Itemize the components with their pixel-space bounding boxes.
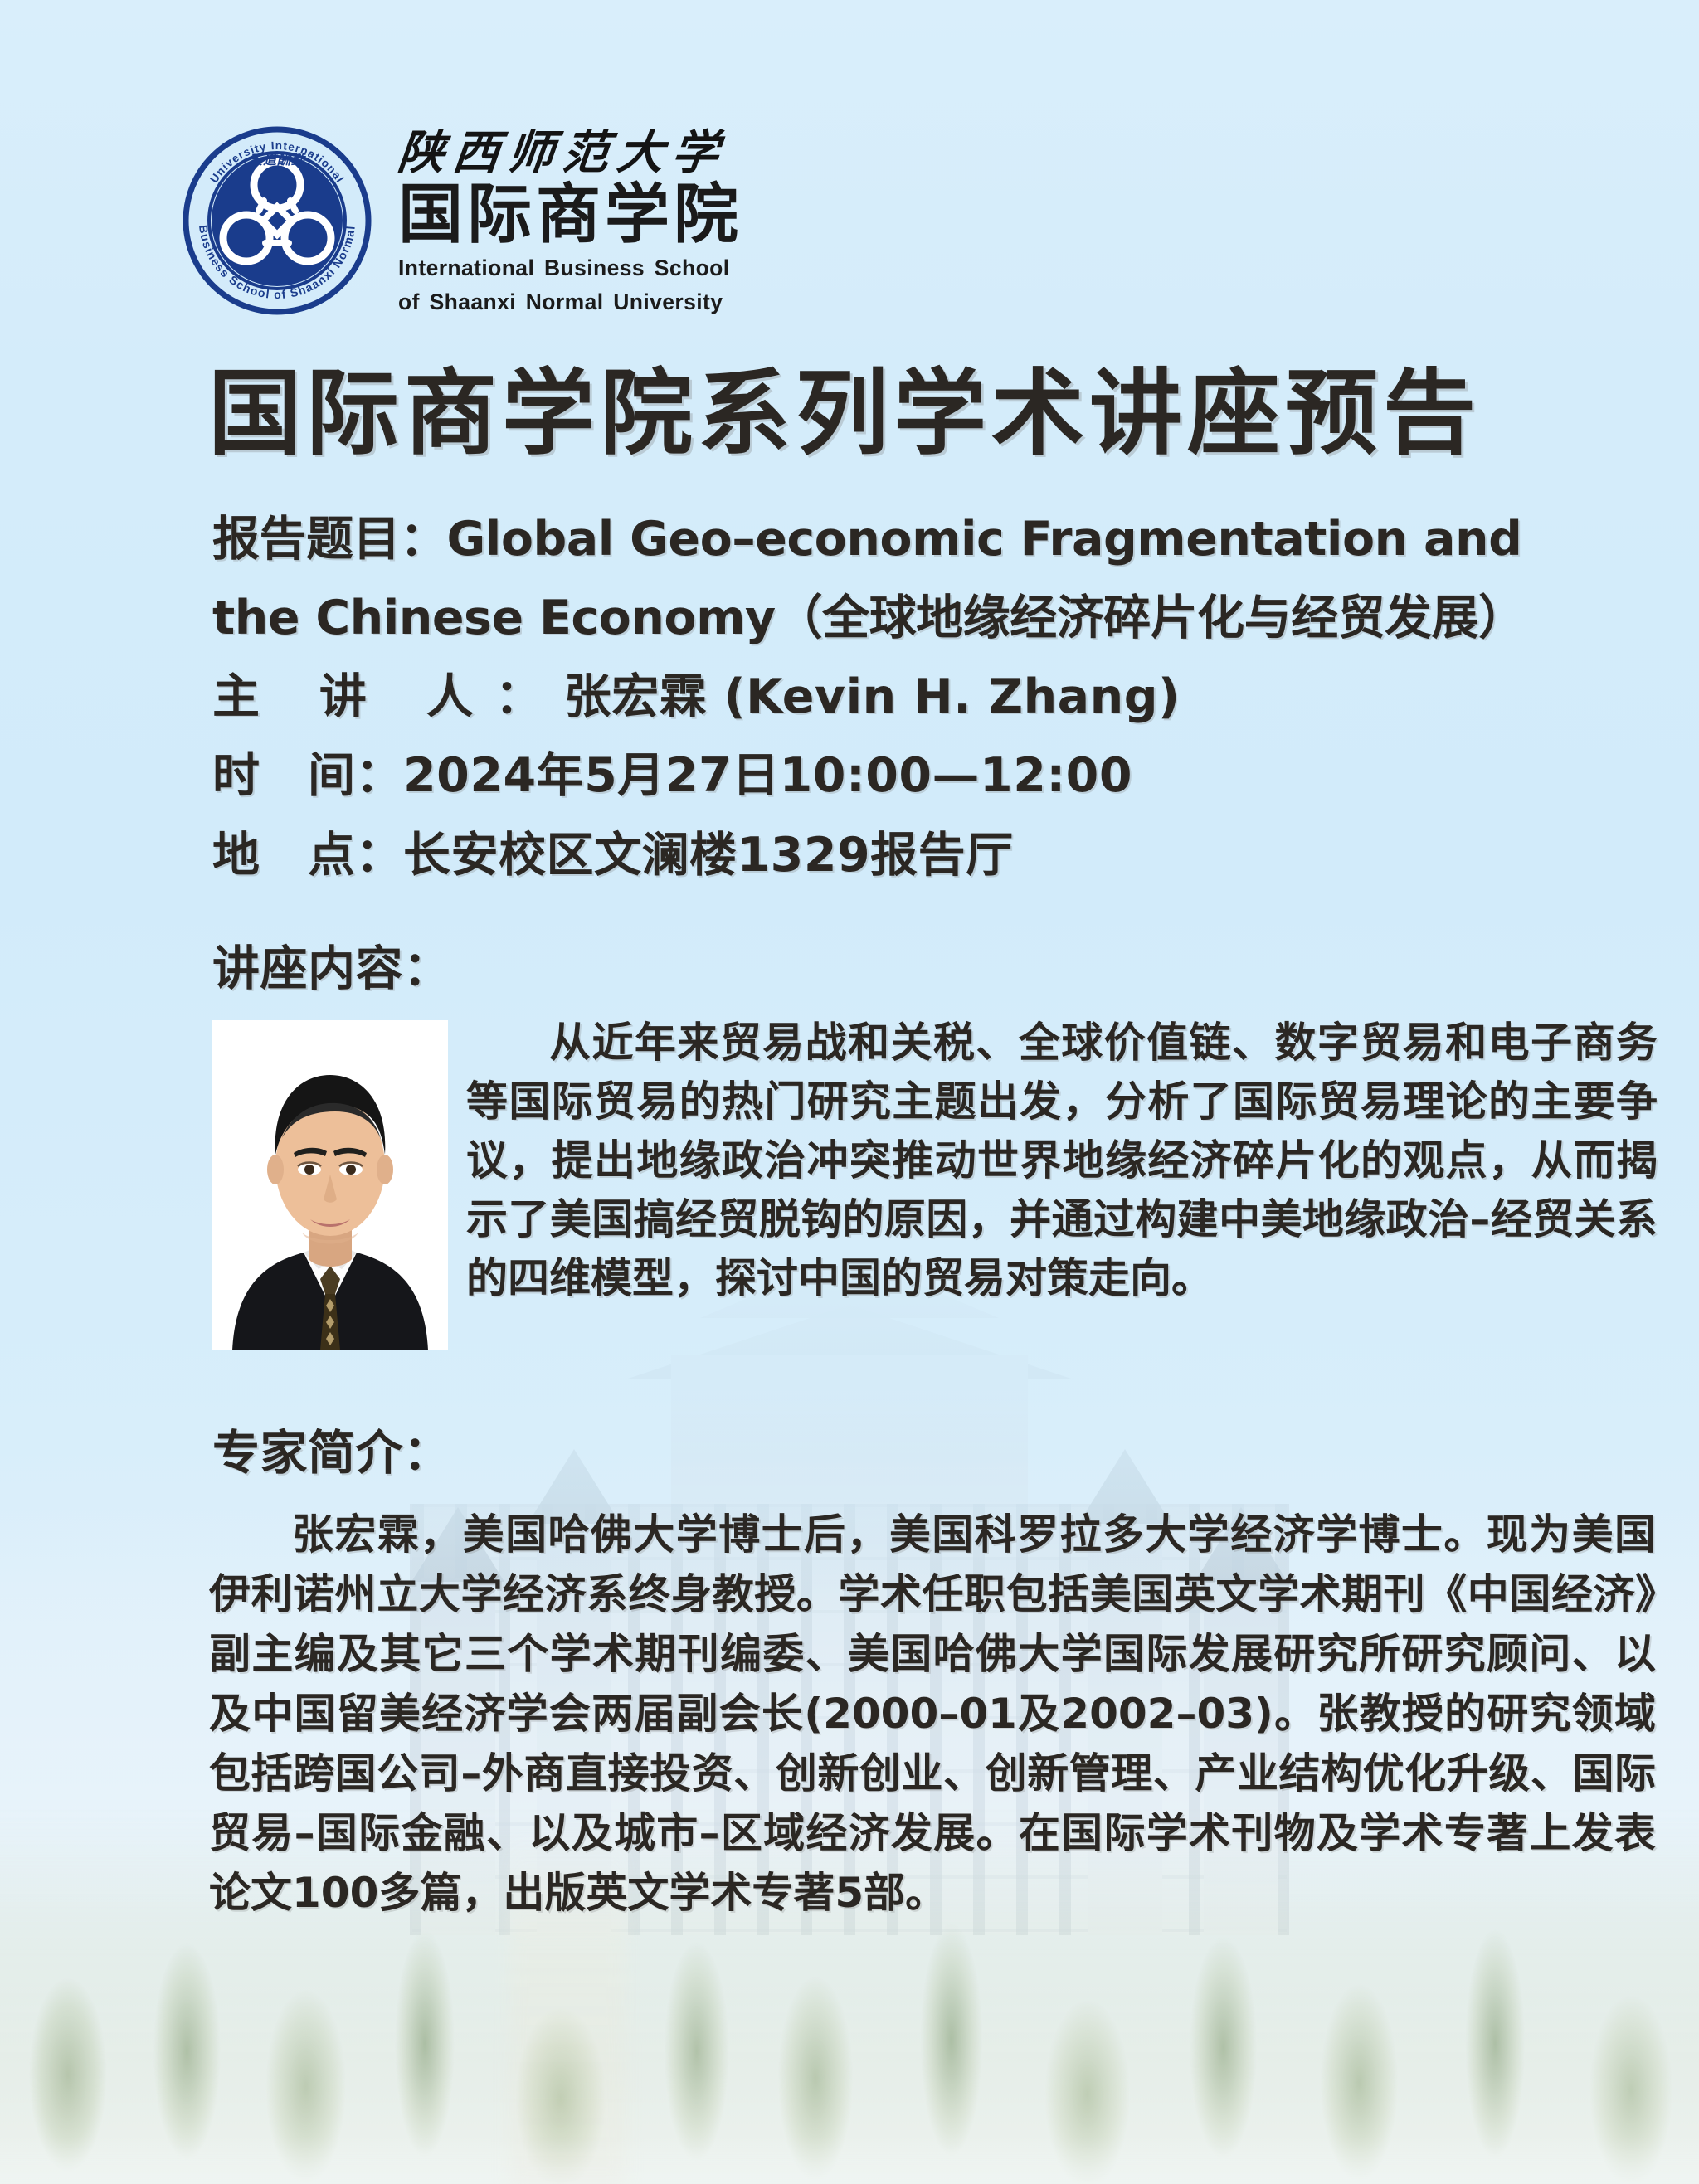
time-colon: ： (356, 748, 404, 803)
poster-content: University International Business School… (0, 0, 1699, 1923)
speaker-value: 张宏霖 (Kevin H. Zhang) (564, 669, 1181, 724)
lecture-content-block: 从近年来贸易战和关税、全球价值链、数字贸易和电子商务等国际贸易的热门研究主题出发… (0, 1014, 1699, 1370)
place-colon: ： (356, 828, 404, 883)
topic-value-line2-en: the Chinese Economy (212, 591, 776, 645)
time-label-char2: 间 (308, 748, 356, 803)
time-value: 2024年5月27日10:00—12:00 (403, 748, 1132, 803)
place-value: 长安校区文澜楼1329报告厅 (403, 828, 1014, 883)
expert-bio-text: 张宏霖，美国哈佛大学博士后，美国科罗拉多大学经济学博士。现为美国伊利诺州立大学经… (209, 1505, 1656, 1923)
event-info-block: 报告题目：Global Geo–economic Fragmentation a… (0, 508, 1699, 885)
topic-value-line2-cn: （全球地缘经济碎片化与经贸发展） (776, 591, 1526, 645)
expert-bio-heading: 专家简介： (212, 1415, 1699, 1483)
topic-value-line1: Global Geo–economic Fragmentation and (447, 512, 1522, 567)
lecture-content-heading: 讲座内容： (212, 931, 1699, 999)
school-wordmark: 陕西师范大学 国际商学院 International Business Scho… (398, 124, 742, 316)
topic-row-line2: the Chinese Economy（全球地缘经济碎片化与经贸发展） (212, 587, 1658, 649)
topic-row-line1: 报告题目：Global Geo–economic Fragmentation a… (212, 508, 1658, 570)
speaker-row: 主 讲 人：张宏霖 (Kevin H. Zhang) (212, 666, 1658, 727)
university-name-cn: 陕西师范大学 (396, 129, 745, 176)
place-row: 地点：长安校区文澜楼1329报告厅 (212, 824, 1658, 886)
expert-bio-block: 张宏霖，美国哈佛大学博士后，美国科罗拉多大学经济学博士。现为美国伊利诺州立大学经… (0, 1505, 1699, 1923)
speaker-label: 主 讲 人： (212, 669, 564, 724)
university-seal-logo: University International Business School… (181, 124, 373, 317)
speaker-portrait (212, 1020, 448, 1350)
place-label-char1: 地 (212, 828, 308, 883)
brand-header: University International Business School… (0, 0, 1699, 317)
school-name-en-line2: of Shaanxi Normal University (398, 289, 742, 317)
page-title: 国际商学院系列学术讲座预告 (0, 363, 1699, 465)
place-label-char2: 点 (308, 828, 356, 883)
time-label-char1: 时 (212, 748, 308, 803)
school-name-en-line1: International Business School (398, 255, 742, 283)
speaker-portrait-illustration (212, 1020, 448, 1350)
svg-text:天道酬勤: 天道酬勤 (249, 152, 306, 168)
topic-label: 报告题目： (212, 512, 447, 567)
time-row: 时间：2024年5月27日10:00—12:00 (212, 745, 1658, 806)
lecture-poster: University International Business School… (0, 0, 1699, 2184)
school-name-cn: 国际商学院 (398, 182, 742, 249)
